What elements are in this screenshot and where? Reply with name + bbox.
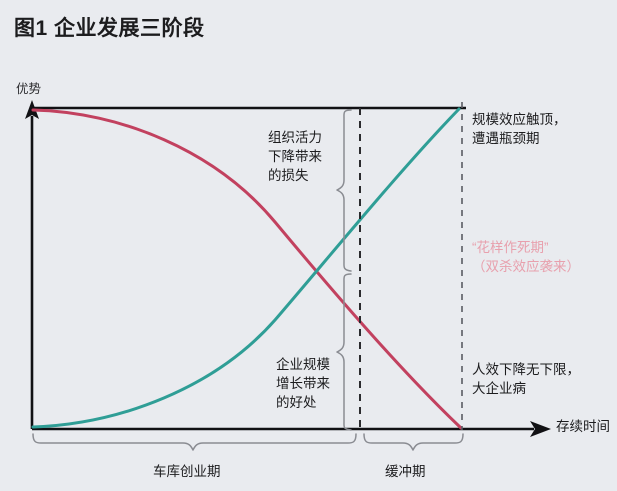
rising-curve [33,109,459,427]
annotation-scale-ceiling: 规模效应触顶， 遭遇瓶颈期 [472,110,567,148]
annotation-scale-benefit: 企业规模 增长带来 的好处 [276,355,330,412]
declining-curve [33,110,461,428]
phase-label-0: 车库创业期 [153,460,221,480]
phase-label-1: 缓冲期 [385,460,426,480]
phase-1-brace [33,434,356,450]
annotation-decline-loss: 组织活力 下降带来 的损失 [268,128,322,185]
phase-2-brace [364,434,463,450]
chart-root: 图1 企业发展三阶段 优势 存续时间 组织活力 下降带来 的损失 企业规模 增长… [0,0,617,491]
annotation-efficiency-drop: 人效下降无下限， 大企业病 [472,360,580,398]
annotation-death-period: “花样作死期” （双杀效应袭来） [472,238,580,276]
upper-brace [337,110,351,271]
